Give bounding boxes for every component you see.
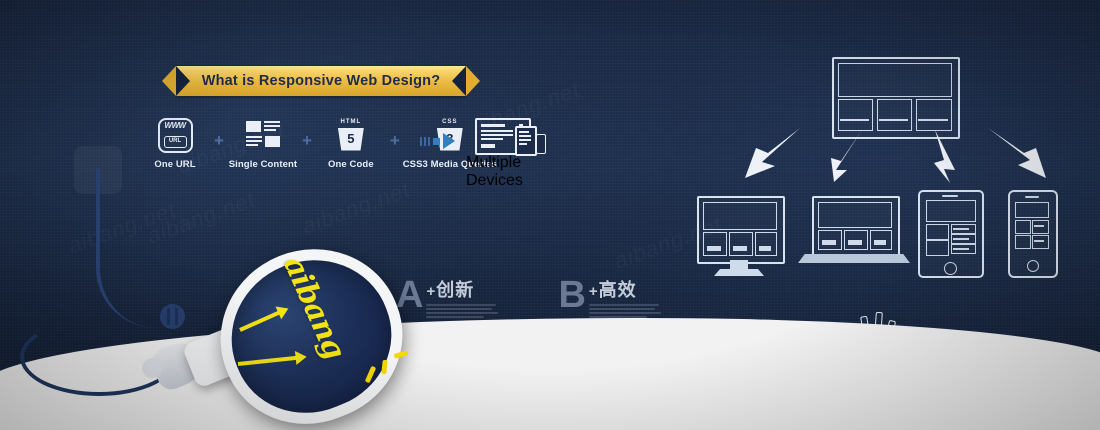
headline-text: What is Responsive Web Design? — [202, 73, 441, 89]
highlight-subtext — [426, 304, 498, 318]
laptop-keyboard-base — [798, 254, 910, 263]
html5-icon-label: HTML — [338, 119, 364, 125]
desktop-stand-base — [714, 269, 764, 276]
tablet-home-button — [944, 262, 957, 275]
highlight-b: B + 高效 — [558, 276, 660, 320]
phone-wireframe — [1008, 190, 1058, 278]
result-label: Multiple Devices — [466, 154, 556, 190]
flow-arrow-icon — [420, 133, 455, 149]
highlight-subtext — [589, 304, 661, 318]
result-multiple-devices: Multiple Devices — [466, 118, 556, 190]
feature-one-url: WWW URL One URL — [138, 118, 212, 170]
plus-separator: + — [214, 124, 224, 158]
multiple-devices-icon — [475, 118, 547, 154]
feature-label: Single Content — [229, 159, 297, 170]
plus-separator: + — [302, 124, 312, 158]
desktop-stand-neck — [730, 260, 748, 269]
highlight-word: 创新 — [436, 276, 474, 302]
watermark: aibang.net — [299, 176, 414, 239]
lightbulb-graphic: aibang — [110, 240, 410, 430]
feature-label: One Code — [328, 159, 374, 170]
bulb-contact-tip — [142, 358, 162, 378]
tablet-speaker — [942, 195, 958, 197]
highlight-row: A + 创新 B + 高效 — [396, 276, 661, 320]
feature-label: One URL — [154, 159, 195, 170]
url-icon-www-label: WWW — [160, 121, 191, 130]
highlight-plus: + — [589, 283, 598, 300]
highlight-plus: + — [426, 283, 435, 300]
desktop-wireframe — [697, 196, 785, 264]
arrow-to-desktop — [745, 128, 800, 178]
highlight-word: 高效 — [599, 276, 637, 302]
html5-shield-icon: HTML 5 — [338, 118, 364, 152]
feature-one-code: HTML 5 One Code — [314, 118, 388, 170]
master-layout-wireframe — [832, 57, 960, 139]
ribbon-notch-left — [176, 66, 190, 96]
headline-ribbon: What is Responsive Web Design? — [176, 66, 466, 96]
highlight-a: A + 创新 — [396, 276, 498, 320]
html5-icon-version: 5 — [347, 132, 354, 145]
highlight-letter: B — [558, 276, 585, 314]
laptop-wireframe — [812, 196, 900, 258]
plus-separator: + — [390, 124, 400, 158]
responsive-web-design-banner: aibang.net aibang.net aibang.net aibang.… — [0, 0, 1100, 430]
url-icon: WWW URL — [158, 118, 193, 152]
content-blocks-icon — [246, 118, 280, 152]
tablet-wireframe — [918, 190, 984, 278]
feature-single-content: Single Content — [226, 118, 300, 170]
phone-speaker — [1025, 196, 1039, 198]
ribbon-notch-right — [452, 66, 466, 96]
css3-icon-label: CSS — [437, 119, 463, 125]
url-icon-url-label: URL — [164, 136, 187, 148]
arrow-to-phone — [988, 128, 1046, 178]
phone-home-button — [1027, 260, 1039, 272]
